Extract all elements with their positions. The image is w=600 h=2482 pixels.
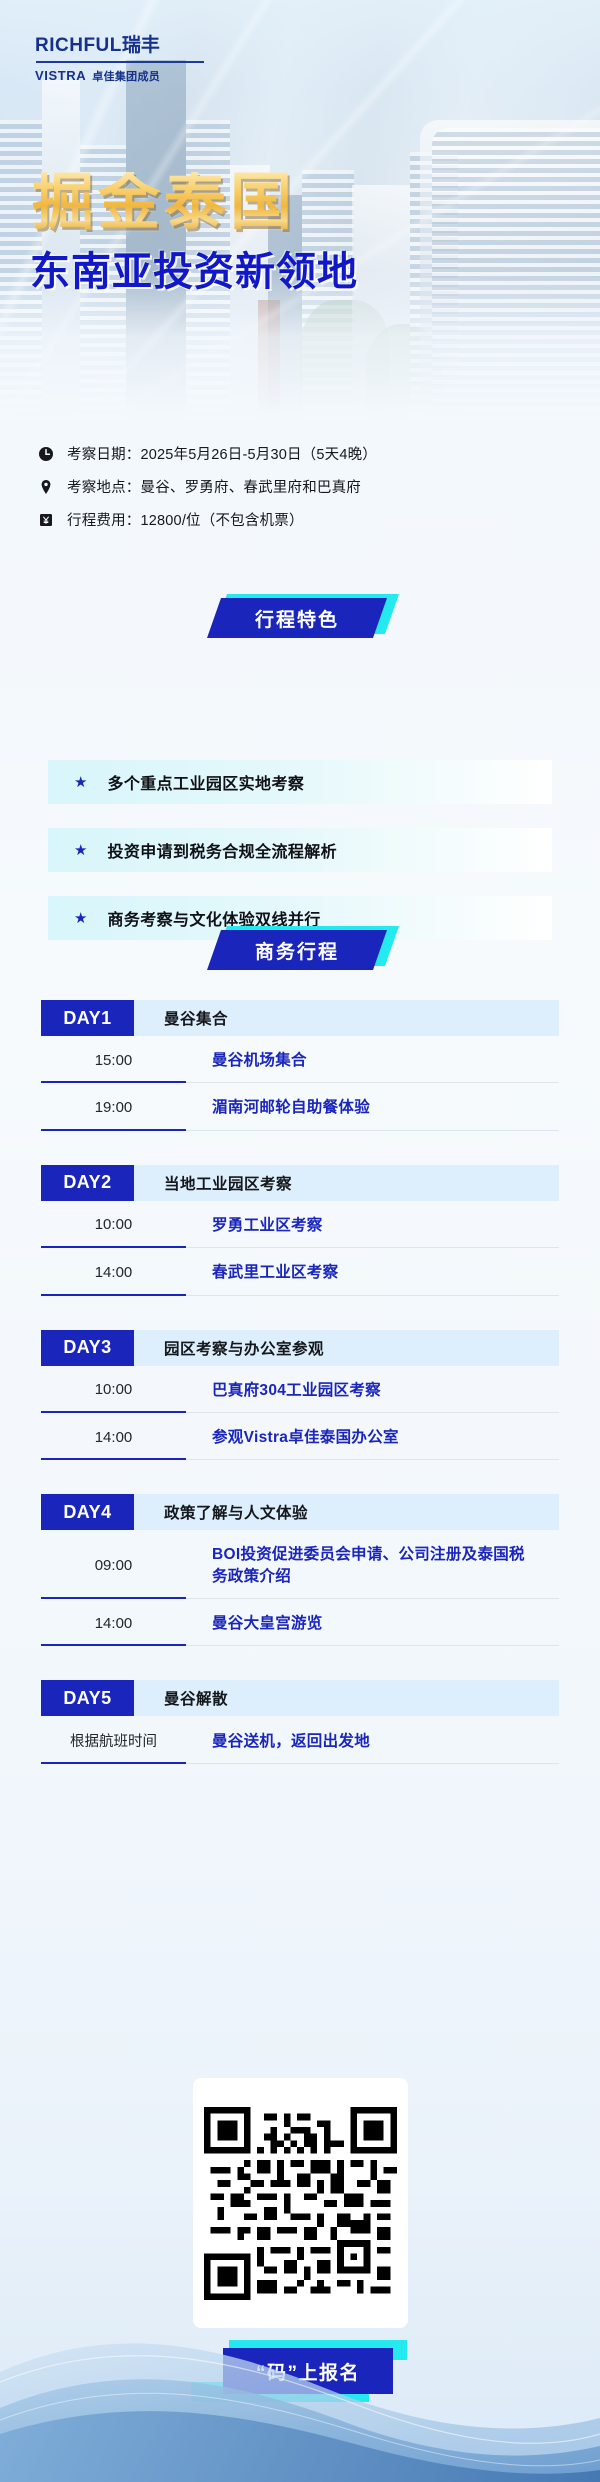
itinerary-day: DAY5 曼谷解散 根据航班时间 曼谷送机，返回出发地 [41,1680,559,1768]
slot-description: 巴真府304工业园区考察 [186,1380,559,1413]
day-title: 园区考察与办公室参观 [134,1330,559,1366]
slot-time: 14:00 [41,1427,186,1460]
feature-item: ★ 投资申请到税务合规全流程解析 [48,828,552,872]
info-location-text: 考察地点：曼谷、罗勇府、春武里府和巴真府 [67,476,361,497]
itinerary-day: DAY3 园区考察与办公室参观 10:00 巴真府304工业园区考察 14:00… [41,1330,559,1465]
star-icon: ★ [74,843,87,858]
info-fee-text: 行程费用：12800/位（不包含机票） [67,509,304,530]
day-title: 政策了解与人文体验 [134,1494,559,1530]
info-row-date: 考察日期：2025年5月26日-5月30日（5天4晚） [38,437,568,470]
page-title: 掘金泰国 [32,172,296,234]
day-header: DAY2 当地工业园区考察 [41,1165,559,1201]
logo-secondary-en: VISTRA [35,68,86,83]
logo-primary-en: RICHFUL [35,35,122,56]
day-tag: DAY1 [41,1000,134,1036]
slot-time: 14:00 [41,1262,186,1295]
info-row-fee: 行程费用：12800/位（不包含机票） [38,503,568,536]
itinerary-day: DAY1 曼谷集合 15:00 曼谷机场集合 19:00 湄南河邮轮自助餐体验 [41,1000,559,1135]
day-tag: DAY4 [41,1494,134,1530]
itinerary-slot: 14:00 参观Vistra卓佳泰国办公室 [41,1413,559,1460]
itinerary-slot: 14:00 曼谷大皇宫游览 [41,1599,559,1646]
itinerary-banner: 商务行程 [0,930,600,980]
day-header: DAY5 曼谷解散 [41,1680,559,1716]
itinerary-slot: 根据航班时间 曼谷送机，返回出发地 [41,1716,559,1764]
feature-item: ★ 多个重点工业园区实地考察 [48,760,552,804]
slot-description: 曼谷送机，返回出发地 [186,1730,559,1764]
star-icon: ★ [74,911,87,926]
day-title: 曼谷集合 [134,1000,559,1036]
info-row-location: 考察地点：曼谷、罗勇府、春武里府和巴真府 [38,470,568,503]
feature-text: 多个重点工业园区实地考察 [107,770,304,794]
slot-description: 春武里工业区考察 [186,1262,559,1295]
slot-time: 根据航班时间 [41,1730,186,1764]
itinerary-slot: 14:00 春武里工业区考察 [41,1248,559,1295]
day-title: 曼谷解散 [134,1680,559,1716]
itinerary-slot: 19:00 湄南河邮轮自助餐体验 [41,1083,559,1130]
day-header: DAY1 曼谷集合 [41,1000,559,1036]
slot-time: 09:00 [41,1544,186,1599]
slot-description: 曼谷机场集合 [186,1050,559,1083]
feature-text: 投资申请到税务合规全流程解析 [107,838,337,862]
itinerary-day: DAY2 当地工业园区考察 10:00 罗勇工业区考察 14:00 春武里工业区… [41,1165,559,1300]
page-subtitle: 东南亚投资新领地 [30,252,358,292]
banner-navy-plate: 商务行程 [207,930,387,970]
slot-description: 参观Vistra卓佳泰国办公室 [186,1427,559,1460]
features-banner-label: 行程特色 [255,605,339,632]
itinerary-banner-label: 商务行程 [255,937,339,964]
bottom-wave-decoration [0,2222,600,2482]
clock-icon [38,446,54,462]
day-tag: DAY2 [41,1165,134,1201]
money-icon [38,512,54,528]
slot-description: 曼谷大皇宫游览 [186,1613,559,1646]
day-tag: DAY3 [41,1330,134,1366]
day-title: 当地工业园区考察 [134,1165,559,1201]
banner-navy-plate: 行程特色 [207,598,387,638]
star-icon: ★ [74,775,87,790]
slot-description: BOI投资促进委员会申请、公司注册及泰国税务政策介绍 [186,1544,559,1599]
logo-primary: RICHFUL瑞丰 [35,36,220,55]
location-pin-icon [38,479,54,495]
slot-time: 10:00 [41,1380,186,1413]
itinerary-slot: 10:00 巴真府304工业园区考察 [41,1366,559,1413]
itinerary-day: DAY4 政策了解与人文体验 09:00 BOI投资促进委员会申请、公司注册及泰… [41,1494,559,1650]
slot-description: 罗勇工业区考察 [186,1215,559,1248]
slot-time: 19:00 [41,1097,186,1130]
logo-divider [36,61,204,63]
itinerary-slot: 10:00 罗勇工业区考察 [41,1201,559,1248]
itinerary-list: DAY1 曼谷集合 15:00 曼谷机场集合 19:00 湄南河邮轮自助餐体验 … [0,1000,600,1768]
logo-secondary-cn: 卓佳集团成员 [92,68,160,84]
slot-description: 湄南河邮轮自助餐体验 [186,1097,559,1130]
info-date-text: 考察日期：2025年5月26日-5月30日（5天4晚） [67,443,377,464]
slot-time: 10:00 [41,1215,186,1248]
day-header: DAY4 政策了解与人文体验 [41,1494,559,1530]
itinerary-slot: 09:00 BOI投资促进委员会申请、公司注册及泰国税务政策介绍 [41,1530,559,1599]
logo-secondary: VISTRA 卓佳集团成员 [35,68,220,84]
slot-time: 14:00 [41,1613,186,1646]
slot-time: 15:00 [41,1050,186,1083]
event-info-list: 考察日期：2025年5月26日-5月30日（5天4晚） 考察地点：曼谷、罗勇府、… [38,437,568,536]
day-tag: DAY5 [41,1680,134,1716]
logo-primary-cn: 瑞丰 [122,35,160,56]
itinerary-slot: 15:00 曼谷机场集合 [41,1036,559,1083]
brand-logo: RICHFUL瑞丰 VISTRA 卓佳集团成员 [35,36,220,84]
day-header: DAY3 园区考察与办公室参观 [41,1330,559,1366]
poster-root: RICHFUL瑞丰 VISTRA 卓佳集团成员 掘金泰国 东南亚投资新领地 考察… [0,0,600,2482]
features-banner: 行程特色 [0,598,600,648]
